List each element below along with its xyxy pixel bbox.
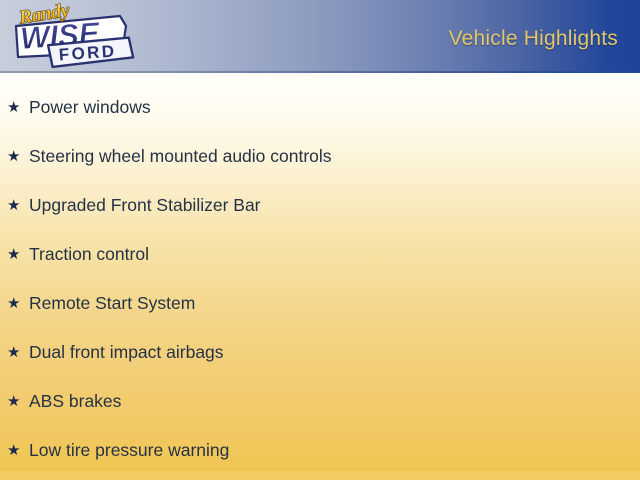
star-bullet-icon: ★ [7,377,23,426]
feature-label: Steering wheel mounted audio controls [29,146,332,166]
list-item: ★Traction control [0,230,640,279]
list-item: ★Remote Start System [0,279,640,328]
header-bar: WISE Randy FORD Vehicle Highlights [0,0,640,73]
list-item: ★Steering wheel mounted audio controls [0,132,640,181]
feature-label: Traction control [29,244,149,264]
feature-label: Dual front impact airbags [29,342,224,362]
feature-label: Upgraded Front Stabilizer Bar [29,195,261,215]
star-bullet-icon: ★ [7,83,23,132]
star-bullet-icon: ★ [7,279,23,328]
star-bullet-icon: ★ [7,132,23,181]
feature-label: Power windows [29,97,151,117]
feature-label: Remote Start System [29,293,195,313]
vehicle-features-list: ★Power windows★Steering wheel mounted au… [0,73,640,475]
star-bullet-icon: ★ [7,181,23,230]
star-bullet-icon: ★ [7,328,23,377]
list-item: ★Power windows [0,83,640,132]
logo-artwork: WISE Randy FORD [2,0,142,76]
feature-label: ABS brakes [29,391,121,411]
star-bullet-icon: ★ [7,230,23,279]
list-item: ★Upgraded Front Stabilizer Bar [0,181,640,230]
list-item: ★Dual front impact airbags [0,328,640,377]
randy-wise-ford-logo: WISE Randy FORD [2,0,142,76]
logo-ford-text: FORD [58,42,117,65]
vehicle-highlights-slide: WISE Randy FORD Vehicle Highlights ★Powe… [0,0,640,480]
page-title: Vehicle Highlights [449,27,618,51]
list-item: ★ABS brakes [0,377,640,426]
list-item: ★Low tire pressure warning [0,426,640,475]
feature-label: Low tire pressure warning [29,440,229,460]
star-bullet-icon: ★ [7,426,23,475]
